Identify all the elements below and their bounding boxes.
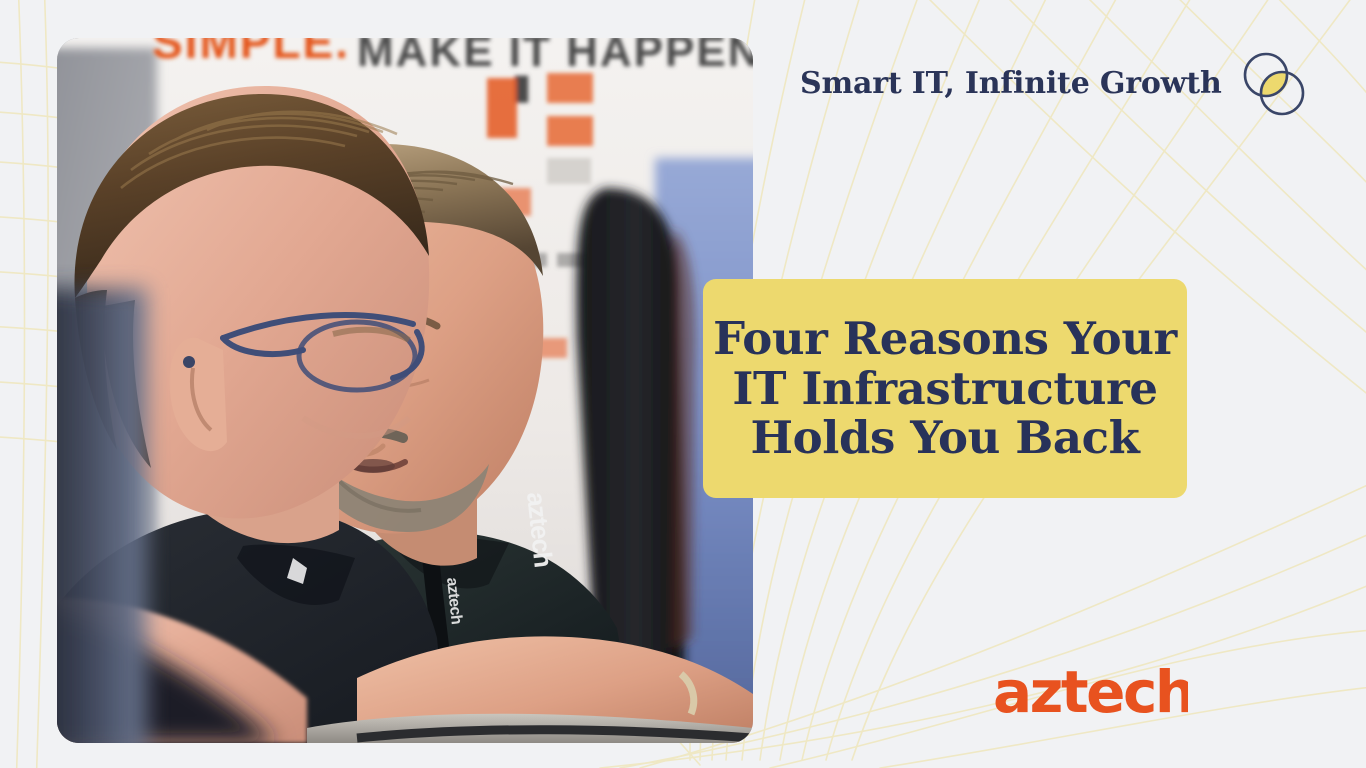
aztech-wordmark: aztech — [993, 664, 1188, 726]
venn-circles-icon — [1240, 50, 1308, 118]
tagline-text: Smart IT, Infinite Growth — [800, 66, 1222, 101]
aztech-logo: aztech — [993, 664, 1188, 726]
hero-photo: SIMPLE. MAKE IT HAPPEN AWESOME AT ▮ — [57, 38, 753, 743]
headline-plate: Four Reasons Your IT Infrastructure Hold… — [703, 279, 1187, 498]
social-card: SIMPLE. MAKE IT HAPPEN AWESOME AT ▮ — [0, 0, 1366, 768]
svg-text:SIMPLE.: SIMPLE. — [152, 38, 350, 68]
svg-text:MAKE IT HAPPEN: MAKE IT HAPPEN — [357, 38, 753, 76]
tagline: Smart IT, Infinite Growth — [800, 48, 1308, 118]
headline-text: Four Reasons Your IT Infrastructure Hold… — [703, 314, 1187, 464]
